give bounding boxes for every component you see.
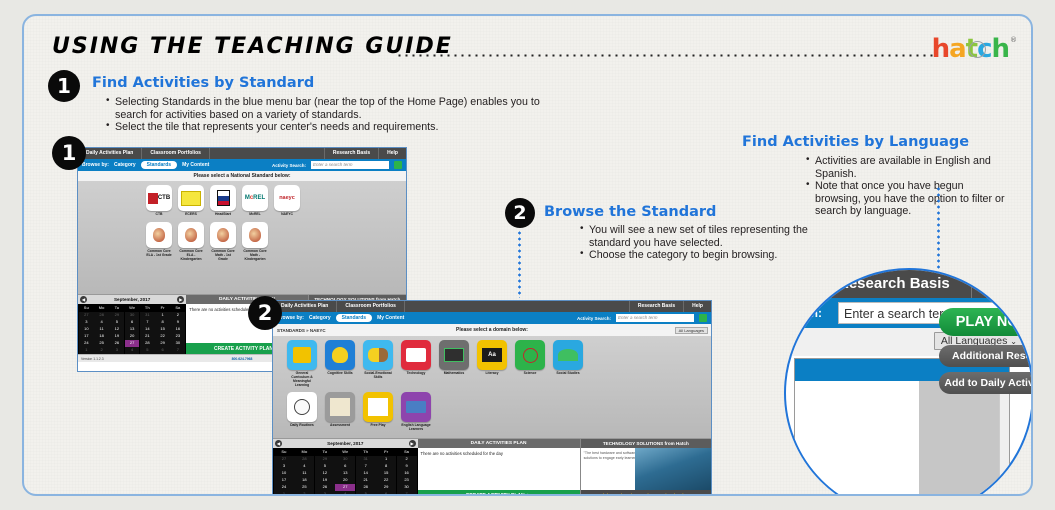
app1-tile-row-2: Common Core ELA - 1st Grade Common Core … — [84, 222, 400, 261]
calendar-day[interactable]: 6 — [335, 463, 355, 470]
magnifier-menu-divider — [971, 270, 972, 298]
app1-tile-cc-ela-1st[interactable]: Common Core ELA - 1st Grade — [146, 222, 172, 261]
app2-tab-category[interactable]: Category — [309, 315, 331, 321]
app1-tile-ctb[interactable]: CTB CTB — [146, 185, 172, 216]
calendar-day[interactable]: 9 — [170, 319, 185, 326]
calendar-day[interactable]: 30 — [335, 456, 355, 463]
app2-tile-literacy-label: Literacy — [477, 371, 507, 375]
app1-tile-cc-ela-k-icon[interactable] — [178, 222, 204, 248]
calendar-day[interactable]: 14 — [140, 326, 155, 333]
step-1-heading: Find Activities by Standard — [92, 75, 314, 91]
calendar-dow: We — [125, 305, 140, 312]
app2-calendar-header: ◀ September, 2017 ▶ — [273, 439, 418, 448]
calendar-day[interactable]: 10 — [274, 470, 294, 477]
calendar-dow: We — [335, 449, 355, 456]
calendar-day[interactable]: 2 — [397, 456, 417, 463]
app1-tile-naeyc-label: NAEYC — [274, 212, 300, 216]
app2-tile-ell-label: English Language Learners — [401, 423, 431, 431]
calendar-day[interactable]: 20 — [125, 333, 140, 340]
calendar-day[interactable]: 5 — [140, 347, 155, 354]
app2-tile-social-studies-icon[interactable] — [553, 340, 583, 370]
app1-tile-cc-math-k-icon[interactable] — [242, 222, 268, 248]
calendar-day[interactable]: 1 — [79, 347, 94, 354]
calendar-day[interactable]: 2 — [94, 347, 109, 354]
app2-language-filter-select[interactable]: All Languages — [675, 327, 708, 334]
magnifier-research-basis-item[interactable]: Research Basis — [838, 275, 950, 292]
calendar-day[interactable]: 11 — [294, 470, 314, 477]
app2-tile-technology-icon[interactable] — [401, 340, 431, 370]
calendar-day[interactable]: 2 — [170, 312, 185, 319]
calendar-day[interactable]: 16 — [170, 326, 185, 333]
app2-tile-cognitive-skills[interactable]: Cognitive Skills — [325, 340, 355, 387]
calendar-day[interactable]: 27 — [274, 456, 294, 463]
app1-instruction-text: Please select a National Standard below: — [194, 173, 291, 179]
app2-tile-daily-routines[interactable]: Daily Routines — [287, 392, 317, 431]
calendar-day[interactable]: 29 — [315, 456, 335, 463]
calendar-day[interactable]: 6 — [125, 319, 140, 326]
app2-dap-empty-text: There are no activities scheduled for th… — [418, 448, 580, 490]
magnifier-top-menu[interactable]: Research Basis — [786, 270, 1032, 298]
language-section-heading: Find Activities by Language — [742, 134, 969, 150]
calendar-day[interactable]: 12 — [315, 470, 335, 477]
magnifier-scrollbar[interactable]: ▲ — [999, 381, 1009, 496]
logo-trademark: ® — [1010, 37, 1016, 44]
app2-tile-assessment-label: Assessment — [325, 423, 355, 427]
app2-tile-row-1: General Curriculum & Meaningful Learning… — [287, 340, 705, 387]
app2-menu-research-basis[interactable]: Research Basis — [630, 301, 684, 312]
app2-blue-menu-bar[interactable]: Browse by: Category Standards My Content… — [273, 312, 711, 324]
app2-tile-general-curriculum[interactable]: General Curriculum & Meaningful Learning — [287, 340, 317, 387]
magnifier-activity-sidebar — [919, 381, 1009, 496]
calendar-day[interactable]: 26 — [109, 340, 124, 347]
step-2-connector-dots — [518, 230, 521, 298]
calendar-day[interactable]: 21 — [356, 477, 376, 484]
calendar-day[interactable]: 30 — [397, 484, 417, 491]
app2-tile-free-play[interactable]: Free Play — [363, 392, 393, 431]
app2-instruction-text: Please select a domain below: — [456, 327, 528, 333]
app1-instruction-bar: Please select a National Standard below: — [78, 171, 406, 181]
page-title: USING THE TEACHING GUIDE — [52, 34, 453, 59]
calendar-dow: Mo — [94, 305, 109, 312]
app1-footer-version: Version 1.1.2.3 — [81, 357, 232, 361]
app2-tile-mathematics-label: Mathematics — [439, 371, 469, 375]
app2-tile-daily-routines-icon[interactable] — [287, 392, 317, 422]
magnifier-search-label: ch: — [804, 306, 822, 320]
app2-menu-spacer — [405, 301, 630, 312]
app1-menu-research-basis[interactable]: Research Basis — [325, 148, 379, 159]
app2-create-plan-arrow-icon: ▶ — [528, 493, 532, 497]
app2-tile-ell[interactable]: English Language Learners — [401, 392, 431, 431]
app2-tile-social-emotional[interactable]: Social-Emotional Skills — [363, 340, 393, 387]
app2-search-go-icon[interactable] — [699, 314, 707, 322]
calendar-day[interactable]: 19 — [109, 333, 124, 340]
magnifier-activity-content — [795, 381, 919, 496]
calendar-dow: Tu — [109, 305, 124, 312]
calendar-day[interactable]: 31 — [356, 456, 376, 463]
calendar-day[interactable]: 1 — [274, 491, 294, 496]
app1-tile-cc-math-k[interactable]: Common Core Math - Kindergarten — [242, 222, 268, 261]
step-2-badge: 2 — [505, 198, 535, 228]
calendar-day[interactable]: 12 — [109, 326, 124, 333]
app2-calendar-next-icon[interactable]: ▶ — [409, 440, 416, 447]
calendar-dow: Th — [140, 305, 155, 312]
app1-menu-spacer — [210, 148, 325, 159]
app2-tile-literacy[interactable]: Aa Literacy — [477, 340, 507, 387]
calendar-dow: Mo — [294, 449, 314, 456]
calendar-day[interactable]: 27 — [335, 484, 355, 491]
calendar-day[interactable]: 3 — [109, 347, 124, 354]
logo-letter-h1: h — [932, 36, 950, 62]
app1-tab-my-content[interactable]: My Content — [182, 162, 209, 168]
calendar-dow: Th — [356, 449, 376, 456]
app2-tile-assessment-icon[interactable] — [325, 392, 355, 422]
calendar-day[interactable]: 19 — [315, 477, 335, 484]
calendar-day[interactable]: 8 — [376, 463, 396, 470]
calendar-day[interactable]: 1 — [376, 456, 396, 463]
app2-tile-general-curriculum-icon[interactable] — [287, 340, 317, 370]
app1-tile-cc-math-1st-label: Common Core Math - 1st Grade — [210, 249, 236, 261]
app2-calendar-grid[interactable]: SuMoTuWeThFrSa27282930311234567891011121… — [273, 448, 418, 496]
step-1-badge: 1 — [48, 70, 80, 102]
app2-calendar-prev-icon[interactable]: ◀ — [275, 440, 282, 447]
calendar-day[interactable]: 17 — [274, 477, 294, 484]
app2-tsp-link-button[interactable]: Visit HatchEarlyLearning.com/Technology — [581, 490, 711, 496]
app2-tile-social-emotional-label: Social-Emotional Skills — [363, 371, 393, 379]
calendar-day[interactable]: 6 — [155, 347, 170, 354]
header-dotted-rule — [396, 54, 934, 57]
calendar-day[interactable]: 27 — [79, 312, 94, 319]
app1-tile-ctb-label: CTB — [146, 212, 172, 216]
hatch-logo: hatch ® — [932, 36, 1009, 62]
step-2-bullets: You will see a new set of tiles represen… — [580, 224, 810, 262]
app2-tile-science-label: Science — [515, 371, 545, 375]
magnifier-add-to-plan-button[interactable]: Add to Daily Activities Pl — [939, 372, 1033, 394]
app2-tile-general-curriculum-label: General Curriculum & Meaningful Learning — [287, 371, 317, 387]
magnifier-callout: Research Basis ch: Enter a search term A… — [784, 268, 1033, 496]
magnifier-play-now-button[interactable]: PLAY NOW ▶ — [939, 308, 1033, 336]
app2-search-input[interactable]: Enter a search term — [616, 314, 694, 322]
app2-tile-science-icon[interactable] — [515, 340, 545, 370]
app2-top-menu[interactable]: Daily Activities Plan Classroom Portfoli… — [273, 301, 711, 312]
step-1-bullets: Selecting Standards in the blue menu bar… — [106, 96, 566, 134]
calendar-dow: Sa — [170, 305, 185, 312]
app2-tile-row-2: Daily Routines Assessment Free Play — [287, 392, 705, 431]
calendar-dow: Tu — [315, 449, 335, 456]
calendar-day[interactable]: 29 — [376, 484, 396, 491]
language-bullet-1: Activities are available in English and … — [806, 155, 1011, 180]
calendar-day[interactable]: 14 — [356, 470, 376, 477]
app2-tile-science[interactable]: Science — [515, 340, 545, 387]
app1-tile-ecers-label: ECERS — [178, 212, 204, 216]
app1-tile-area: CTB CTB ECERS HeadStart — [78, 181, 406, 294]
calendar-day[interactable]: 3 — [315, 491, 335, 496]
app1-tab-category[interactable]: Category — [114, 162, 136, 168]
app2-tile-technology-label: Technology — [401, 371, 431, 375]
calendar-day[interactable]: 4 — [125, 347, 140, 354]
calendar-day[interactable]: 31 — [140, 312, 155, 319]
app1-tile-mcrel[interactable]: McREL McREL — [242, 185, 268, 216]
step-1-bullet-2: Select the tile that represents your cen… — [106, 121, 566, 134]
app1-create-activity-plan-label: CREATE ACTIVITY PLAN — [214, 346, 273, 352]
step-2-heading: Browse the Standard — [544, 204, 716, 220]
app2-tile-literacy-icon[interactable]: Aa — [477, 340, 507, 370]
app2-breadcrumb[interactable]: STANDARDS » NAEYC — [277, 328, 326, 333]
logo-letter-h2: h — [991, 36, 1009, 62]
teaching-guide-card: USING THE TEACHING GUIDE hatch ® 1 Find … — [22, 14, 1033, 496]
calendar-day[interactable]: 1 — [155, 312, 170, 319]
calendar-day[interactable]: 7 — [170, 347, 185, 354]
language-section-bullets: Activities are available in English and … — [806, 155, 1011, 218]
app1-search-input[interactable]: Enter a search term — [311, 161, 389, 169]
calendar-day[interactable]: 18 — [294, 477, 314, 484]
step-2-bullet-2: Choose the category to begin browsing. — [580, 249, 810, 262]
calendar-dow: Su — [79, 305, 94, 312]
app2-tsp-title: TECHNOLOGY SOLUTIONS from Hatch — [581, 439, 711, 448]
app1-menu-help[interactable]: Help — [379, 148, 406, 159]
app2-bottom-panels: ◀ September, 2017 ▶ SuMoTuWeThFrSa272829… — [273, 438, 711, 496]
calendar-day[interactable]: 13 — [335, 470, 355, 477]
step-1-bullet-1: Selecting Standards in the blue menu bar… — [106, 96, 566, 121]
app2-create-activity-plan-label: CREATE ACTIVITY PLAN — [466, 493, 525, 497]
app1-calendar-month: September, 2017 — [114, 297, 150, 302]
calendar-day[interactable]: 28 — [140, 340, 155, 347]
app1-tile-cc-math-1st[interactable]: Common Core Math - 1st Grade — [210, 222, 236, 261]
calendar-dow: Su — [274, 449, 294, 456]
calendar-day[interactable]: 30 — [125, 312, 140, 319]
calendar-day[interactable]: 11 — [94, 326, 109, 333]
app1-tile-cc-ela-k[interactable]: Common Core ELA - Kindergarten — [178, 222, 204, 261]
calendar-day[interactable]: 7 — [356, 463, 376, 470]
app1-tile-headstart[interactable]: HeadStart — [210, 185, 236, 216]
calendar-day[interactable]: 3 — [274, 463, 294, 470]
app2-create-activity-plan-button[interactable]: CREATE ACTIVITY PLAN ▶ — [418, 490, 580, 496]
app1-calendar-header: ◀ September, 2017 ▶ — [78, 295, 186, 304]
calendar-day[interactable]: 21 — [140, 333, 155, 340]
app1-calendar-prev-icon[interactable]: ◀ — [80, 296, 87, 303]
app2-tile-cognitive-skills-label: Cognitive Skills — [325, 371, 355, 375]
logo-letter-a: a — [949, 36, 966, 62]
calendar-day[interactable]: 13 — [125, 326, 140, 333]
calendar-dow: Fr — [155, 305, 170, 312]
app2-menu-daily-activities-plan[interactable]: Daily Activities Plan — [273, 301, 337, 312]
calendar-day[interactable]: 26 — [315, 484, 335, 491]
app2-tile-mathematics[interactable]: Mathematics — [439, 340, 469, 387]
calendar-day[interactable]: 23 — [397, 477, 417, 484]
calendar-dow: Fr — [376, 449, 396, 456]
calendar-day[interactable]: 5 — [109, 319, 124, 326]
app2-tsp-photo — [635, 448, 711, 490]
app2-tile-technology[interactable]: Technology — [401, 340, 431, 387]
app1-top-menu[interactable]: Daily Activities Plan Classroom Portfoli… — [78, 148, 406, 159]
app2-menu-help[interactable]: Help — [684, 301, 711, 312]
app1-tile-ctb-icon[interactable]: CTB — [146, 185, 172, 211]
calendar-day[interactable]: 24 — [79, 340, 94, 347]
app2-tile-daily-routines-label: Daily Routines — [287, 423, 317, 427]
calendar-day[interactable]: 5 — [315, 463, 335, 470]
app1-tile-mcrel-label: McREL — [242, 212, 268, 216]
app1-menu-classroom-portfolios[interactable]: Classroom Portfolios — [142, 148, 210, 159]
app2-tile-area: General Curriculum & Meaningful Learning… — [273, 336, 711, 438]
calendar-day[interactable]: 29 — [155, 340, 170, 347]
app1-tile-cc-ela-1st-icon[interactable] — [146, 222, 172, 248]
app2-tab-my-content[interactable]: My Content — [377, 315, 404, 321]
calendar-day[interactable]: 22 — [376, 477, 396, 484]
calendar-day[interactable]: 18 — [94, 333, 109, 340]
app1-calendar-grid[interactable]: SuMoTuWeThFrSa27282930311234567891011121… — [78, 304, 186, 355]
magnifier-play-now-label: PLAY NOW — [956, 314, 1033, 330]
app2-tile-social-emotional-icon[interactable] — [363, 340, 393, 370]
logo-ring-icon — [969, 41, 986, 58]
app1-tile-cc-ela-1st-label: Common Core ELA - 1st Grade — [146, 249, 172, 257]
app1-footer-phone: 800.624.7968 — [232, 357, 253, 361]
calendar-day[interactable]: 15 — [155, 326, 170, 333]
calendar-dow: Sa — [397, 449, 417, 456]
app2-tile-social-studies[interactable]: Social Studies — [553, 340, 583, 387]
calendar-day[interactable]: 6 — [376, 491, 396, 496]
calendar-day[interactable]: 20 — [335, 477, 355, 484]
calendar-day[interactable]: 3 — [79, 319, 94, 326]
app2-tile-ell-icon[interactable] — [401, 392, 431, 422]
step-2-bullet-1: You will see a new set of tiles represen… — [580, 224, 810, 249]
app1-activity-search-label: Activity Search: — [272, 163, 306, 168]
calendar-day[interactable]: 7 — [140, 319, 155, 326]
app2-technology-solutions: TECHNOLOGY SOLUTIONS from Hatch "The bes… — [580, 439, 711, 496]
calendar-day[interactable]: 4 — [335, 491, 355, 496]
app2-calendar[interactable]: ◀ September, 2017 ▶ SuMoTuWeThFrSa272829… — [273, 439, 418, 496]
app2-daily-activities-plan: DAILY ACTIVITIES PLAN There are no activ… — [418, 439, 580, 496]
calendar-day[interactable]: 28 — [356, 484, 376, 491]
app2-tile-assessment[interactable]: Assessment — [325, 392, 355, 431]
app1-search-go-icon[interactable] — [394, 161, 402, 169]
app1-blue-menu-bar[interactable]: Browse by: Category Standards My Content… — [78, 159, 406, 171]
step-2-badge-marker: 2 — [248, 296, 282, 330]
app1-tile-naeyc-icon[interactable]: naeyc — [274, 185, 300, 211]
calendar-day[interactable]: 28 — [294, 456, 314, 463]
calendar-day[interactable]: 27 — [125, 340, 140, 347]
app1-tile-ecers[interactable]: ECERS — [178, 185, 204, 216]
calendar-day[interactable]: 17 — [79, 333, 94, 340]
calendar-day[interactable]: 8 — [155, 319, 170, 326]
calendar-day[interactable]: 4 — [294, 463, 314, 470]
calendar-day[interactable]: 25 — [294, 484, 314, 491]
calendar-day[interactable]: 4 — [94, 319, 109, 326]
app1-calendar-next-icon[interactable]: ▶ — [177, 296, 184, 303]
calendar-day[interactable]: 15 — [376, 470, 396, 477]
calendar-day[interactable]: 28 — [94, 312, 109, 319]
calendar-day[interactable]: 9 — [397, 463, 417, 470]
app1-tile-cc-math-k-label: Common Core Math - Kindergarten — [242, 249, 268, 261]
calendar-day[interactable]: 16 — [397, 470, 417, 477]
app1-tile-headstart-label: HeadStart — [210, 212, 236, 216]
app2-instruction-bar: STANDARDS » NAEYC Please select a domain… — [273, 324, 711, 336]
app1-tab-standards[interactable]: Standards — [141, 161, 177, 169]
step-1-badge-marker: 1 — [52, 136, 86, 170]
magnifier-additional-resources-button[interactable]: Additional Resources — [939, 345, 1033, 367]
app2-dap-title: DAILY ACTIVITIES PLAN — [418, 439, 580, 448]
app2-tile-cognitive-skills-icon[interactable] — [325, 340, 355, 370]
app1-tile-mcrel-icon[interactable]: McREL — [242, 185, 268, 211]
app1-tile-ecers-icon[interactable] — [178, 185, 204, 211]
app2-activity-search-label: Activity Search: — [577, 316, 611, 321]
calendar-day[interactable]: 24 — [274, 484, 294, 491]
app1-tile-row-1: CTB CTB ECERS HeadStart — [84, 185, 400, 216]
app1-menu-daily-activities-plan[interactable]: Daily Activities Plan — [78, 148, 142, 159]
app2-tab-standards[interactable]: Standards — [336, 314, 372, 322]
calendar-day[interactable]: 5 — [356, 491, 376, 496]
app1-calendar[interactable]: ◀ September, 2017 ▶ SuMoTuWeThFrSa272829… — [78, 295, 186, 354]
calendar-day[interactable]: 7 — [397, 491, 417, 496]
calendar-day[interactable]: 23 — [170, 333, 185, 340]
app2-tile-free-play-label: Free Play — [363, 423, 393, 427]
app2-tile-social-studies-label: Social Studies — [553, 371, 583, 375]
app1-tile-cc-math-1st-icon[interactable] — [210, 222, 236, 248]
app2-tsp-body: "The best hardware and software solution… — [581, 448, 711, 490]
app2-tile-mathematics-icon[interactable] — [439, 340, 469, 370]
app1-tile-cc-ela-k-label: Common Core ELA - Kindergarten — [178, 249, 204, 261]
app2-calendar-month: September, 2017 — [327, 441, 363, 446]
app1-browse-by-label: Browse by: — [82, 162, 109, 168]
calendar-day[interactable]: 29 — [109, 312, 124, 319]
calendar-day[interactable]: 25 — [94, 340, 109, 347]
calendar-day[interactable]: 2 — [294, 491, 314, 496]
app1-tile-naeyc[interactable]: naeyc NAEYC — [274, 185, 300, 216]
app-window-naeyc-domains[interactable]: Daily Activities Plan Classroom Portfoli… — [272, 300, 712, 496]
app2-tile-free-play-icon[interactable] — [363, 392, 393, 422]
app2-menu-classroom-portfolios[interactable]: Classroom Portfolios — [337, 301, 405, 312]
calendar-day[interactable]: 10 — [79, 326, 94, 333]
calendar-day[interactable]: 22 — [155, 333, 170, 340]
app1-tile-headstart-icon[interactable] — [210, 185, 236, 211]
calendar-day[interactable]: 30 — [170, 340, 185, 347]
language-bullet-2: Note that once you have begun browsing, … — [806, 180, 1011, 218]
